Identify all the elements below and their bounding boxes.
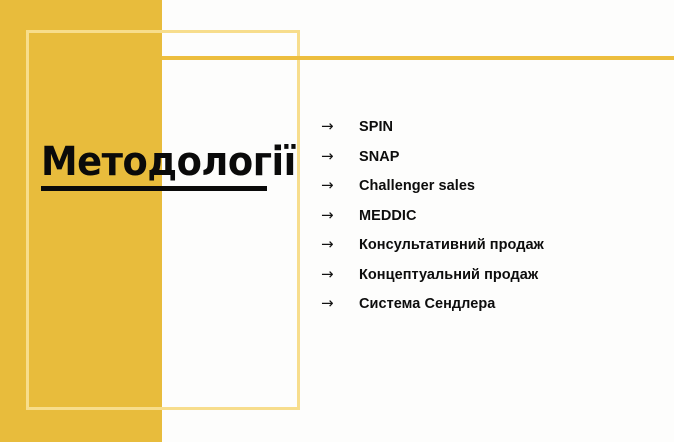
arrow-right-icon: → [321,117,359,136]
arrow-right-icon: → [321,265,359,284]
list-item: → Концептуальний продаж [321,265,651,295]
list-item-label: SPIN [359,118,393,137]
list-item-label: Концептуальний продаж [359,266,538,285]
list-item: → SPIN [321,117,651,147]
arrow-right-icon: → [321,147,359,166]
decorative-frame-rectangle [26,30,300,410]
list-item-label: Система Сендлера [359,295,495,314]
list-item: → Консультативний продаж [321,235,651,265]
list-item: → Challenger sales [321,176,651,206]
page-title-underline [41,186,267,191]
page-title-text: Методології [41,140,296,184]
list-item-label: SNAP [359,148,400,167]
list-item: → SNAP [321,147,651,177]
list-item: → MEDDIC [321,206,651,236]
slide-canvas: Методології → SPIN → SNAP → Challenger s… [0,0,674,442]
list-item-label: Консультативний продаж [359,236,544,255]
methodology-list: → SPIN → SNAP → Challenger sales → MEDDI… [321,117,651,324]
horizontal-accent-rule [162,56,674,60]
page-title: Методології [41,140,318,191]
list-item-label: Challenger sales [359,177,475,196]
arrow-right-icon: → [321,206,359,225]
arrow-right-icon: → [321,235,359,254]
list-item: → Система Сендлера [321,294,651,324]
arrow-right-icon: → [321,294,359,313]
list-item-label: MEDDIC [359,207,417,226]
arrow-right-icon: → [321,176,359,195]
